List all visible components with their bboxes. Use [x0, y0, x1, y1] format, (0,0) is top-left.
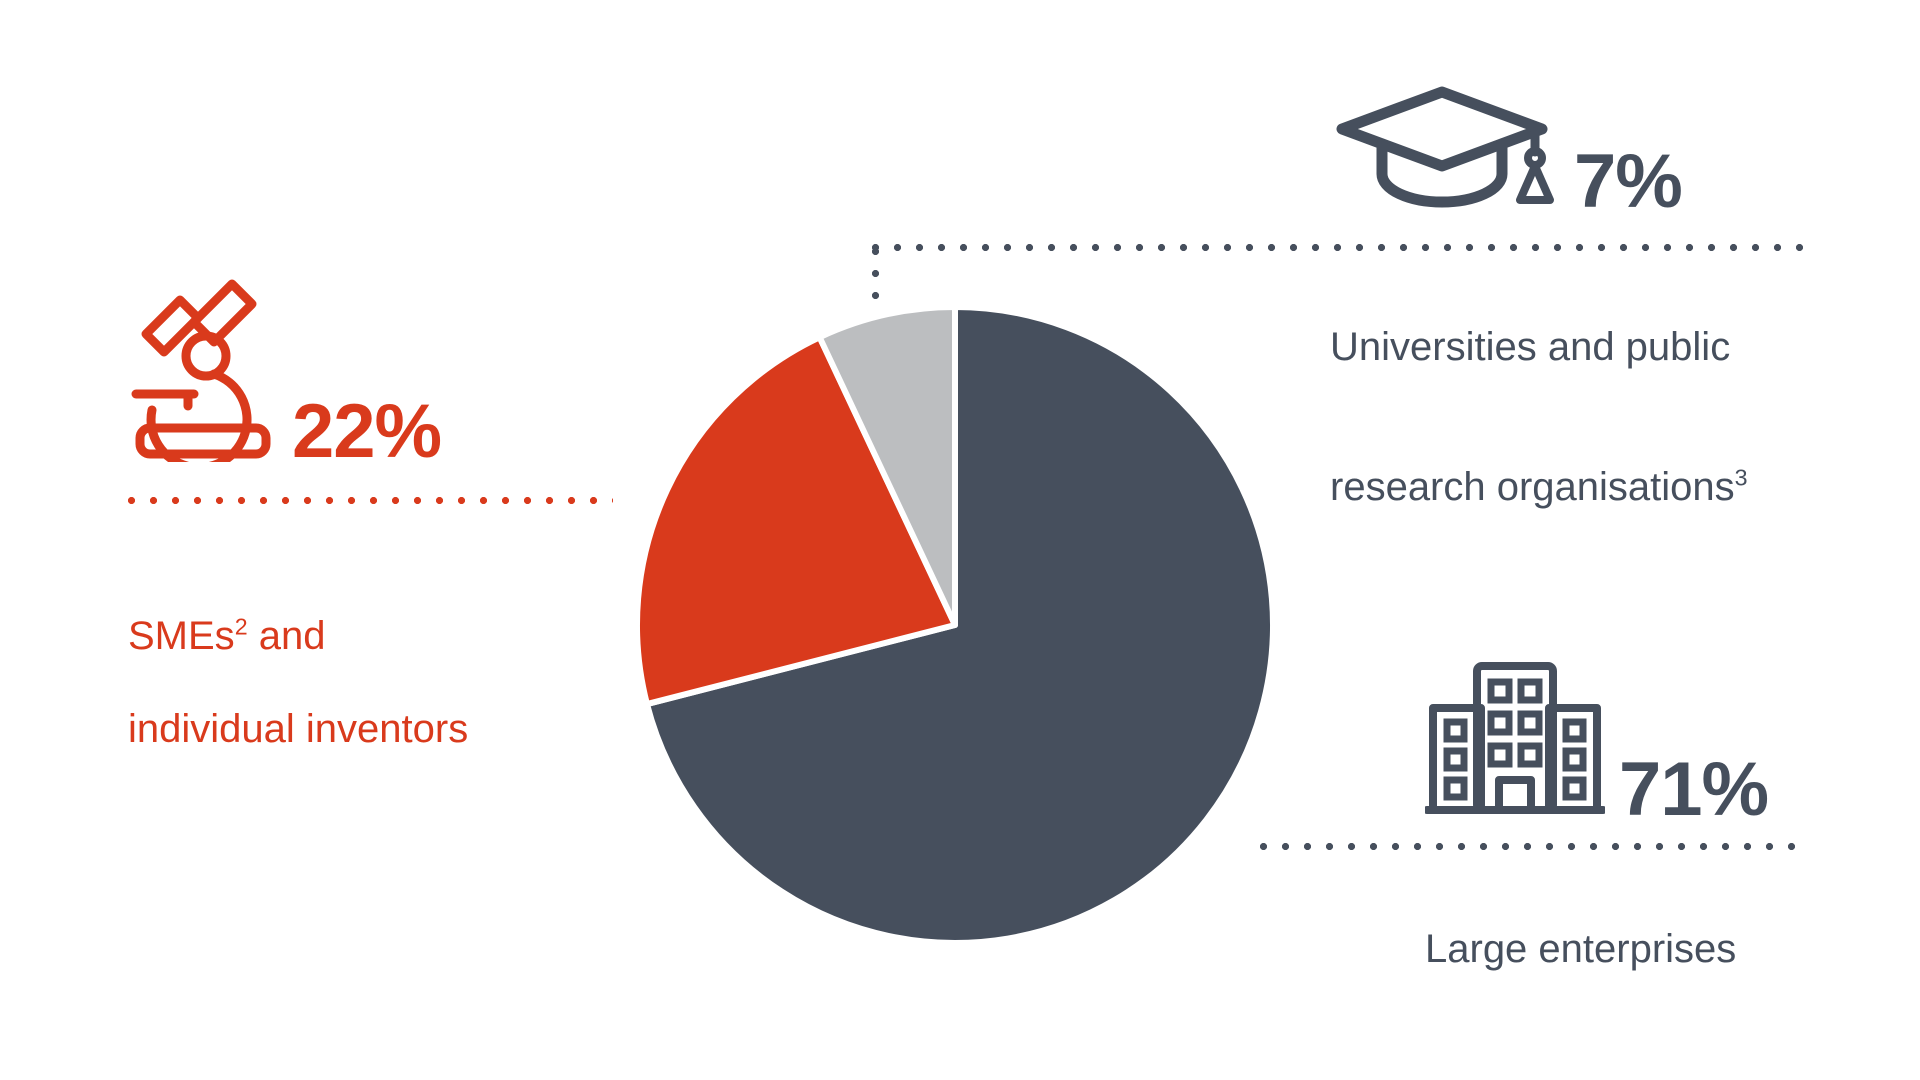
callout-universities-line2-text: research organisations — [1330, 465, 1735, 509]
callout-large-enterprises-line1: Large enterprises — [1425, 926, 1768, 973]
callout-smes-line2: individual inventors — [128, 706, 468, 753]
graduation-cap-icon — [1330, 82, 1560, 217]
callout-universities-line2: research organisations3 — [1330, 417, 1748, 511]
callout-universities-footnote-marker: 3 — [1735, 465, 1748, 491]
callout-universities-header: 7% — [1330, 82, 1748, 217]
callout-smes-percent: 22% — [292, 397, 441, 467]
callout-smes-line1-text: SMEs — [128, 614, 235, 658]
callout-universities-description: Universities and public research organis… — [1330, 277, 1748, 558]
pie-chart — [635, 305, 1275, 945]
callout-large-enterprises-description: Large enterprises — [1425, 879, 1768, 1019]
callout-universities-percent: 7% — [1574, 147, 1682, 217]
callout-smes-line1: SMEs2 and — [128, 566, 468, 660]
callout-smes-description: SMEs2 and individual inventors — [128, 519, 468, 800]
callout-universities-line1: Universities and public — [1330, 324, 1748, 371]
office-building-icon — [1425, 650, 1605, 831]
callout-large-enterprises[interactable]: 71% Large enterprises — [1425, 650, 1768, 1019]
callout-smes-line1-tail: and — [248, 614, 326, 658]
callout-smes[interactable]: 22% SMEs2 and individual inventors — [128, 272, 468, 800]
callout-smes-header: 22% — [128, 272, 468, 467]
callout-large-enterprises-header: 71% — [1425, 650, 1768, 831]
pie-chart-svg — [635, 305, 1275, 945]
microscope-icon — [128, 272, 278, 467]
infographic-canvas: 7% Universities and public research orga… — [0, 0, 1920, 1080]
callout-large-enterprises-percent: 71% — [1619, 755, 1768, 831]
callout-smes-footnote-marker: 2 — [235, 613, 248, 639]
leader-line-universities-vertical — [872, 248, 879, 300]
callout-universities[interactable]: 7% Universities and public research orga… — [1330, 82, 1748, 558]
